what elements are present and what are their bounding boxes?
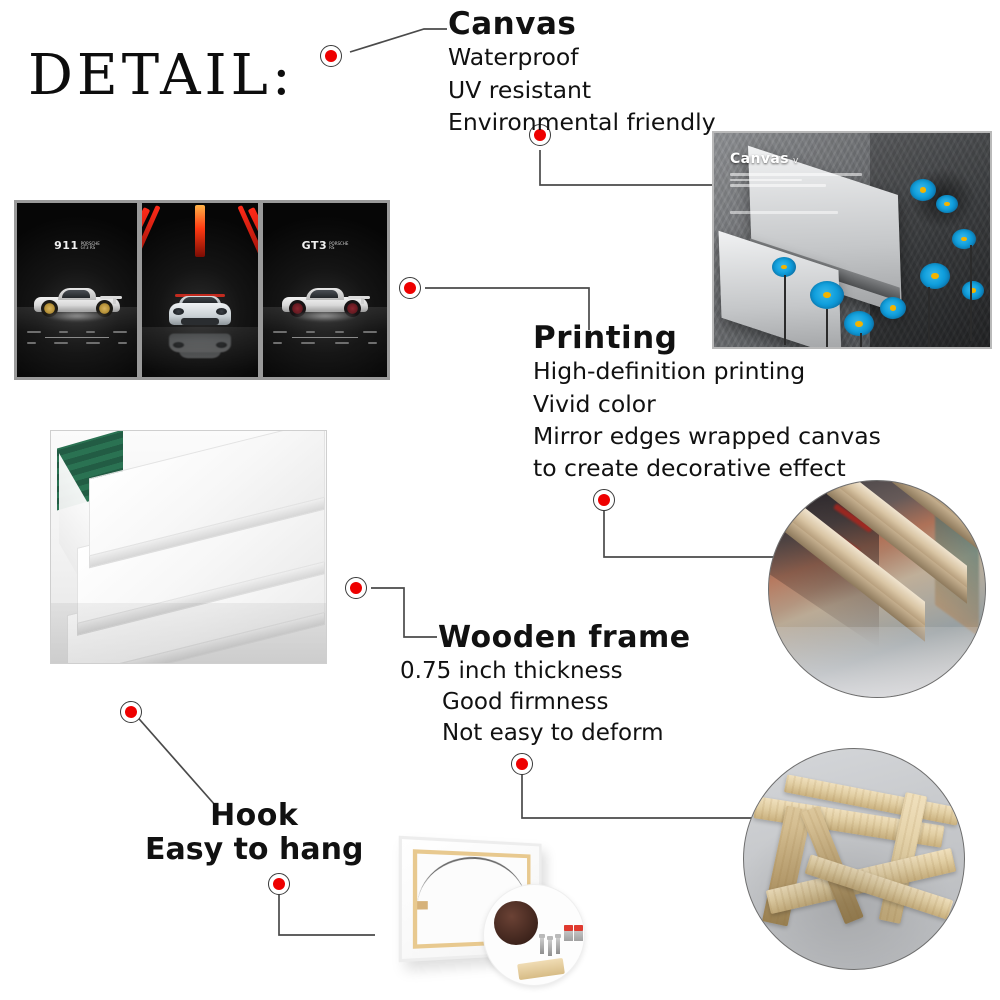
photo-hook-hardware [383,832,583,982]
photo-canvas-flowers: Canvasv [712,131,992,349]
blue-flower [962,281,984,300]
blue-flower [910,179,936,201]
connector-frame-photo [522,764,760,818]
callout-canvas: Canvas Waterproof UV resistant Environme… [448,8,716,138]
connector-canvas-photo [540,150,712,185]
connector-print-photo [604,500,790,557]
callout-printing-line-4: to create decorative effect [533,452,881,484]
blue-flower [920,263,950,289]
blue-flower [952,229,976,249]
blue-flower [844,311,874,336]
red-light-streaks [142,203,258,293]
canvas-overlay-body-text-2 [730,211,850,214]
callout-wooden-frame: Wooden frame 0.75 inch thickness Good fi… [438,622,691,748]
callout-wooden-line-3: Not easy to deform [442,718,691,749]
red-tipped-hook [564,925,573,941]
poster-left-spec-block [27,331,128,357]
connector-wooden [371,588,437,637]
blue-flower [936,195,958,213]
car-silhouette-front [169,291,231,329]
callout-canvas-line-3: Environmental friendly [448,106,716,138]
connector-canvas [350,29,447,52]
connector-hook-photo [279,884,375,935]
wire-anchor-left [417,901,428,909]
callout-canvas-heading: Canvas [448,8,716,41]
marker-printing-dot[interactable] [399,277,421,299]
poster-right-title: GT3PORSCHERS [263,239,387,252]
photo-car-poster-triptych: 911PORSCHEGT3 RS [14,200,390,380]
page-title: DETAIL: [28,48,295,104]
screw [556,937,560,954]
callout-hook: Hook Easy to hang [145,800,363,869]
marker-hook-photo-dot[interactable] [268,873,290,895]
callout-wooden-heading: Wooden frame [438,622,691,654]
marker-wooden-dot[interactable] [345,577,367,599]
callout-canvas-line-2: UV resistant [448,74,716,106]
hardware-disc [494,901,538,945]
marker-hook-dot[interactable] [120,701,142,723]
marker-frame-photo-dot[interactable] [511,753,533,775]
screw [548,939,552,956]
blue-flower [772,257,796,277]
photo-printed-edge-closeup [768,480,986,698]
canvas-overlay-body-text [730,173,880,190]
poster-left-title: 911PORSCHEGT3 RS [17,239,137,252]
photo-wooden-stretcher-frame [743,748,965,970]
red-tipped-hook [574,925,583,941]
callout-wooden-line-2: Good firmness [442,687,691,718]
canvas-overlay-title: Canvasv [730,151,799,167]
callout-hook-line-1: Easy to hang [145,832,363,869]
callout-hook-heading: Hook [145,800,363,832]
blue-flower [880,297,906,319]
wood-wedge [517,958,565,980]
photo-canvas-stack [50,430,327,664]
infographic-canvas: DETAIL: Canvas Waterproof UV resistant E… [0,0,1000,1000]
blue-flower [810,281,844,309]
screw [540,937,544,954]
marker-canvas-dot[interactable] [320,45,342,67]
connector-hook [133,712,215,805]
marker-print-photo-dot[interactable] [593,489,615,511]
poster-panel-center [140,200,260,380]
callout-canvas-line-1: Waterproof [448,41,716,73]
hardware-kit-inset [483,884,585,986]
callout-printing-line-2: Vivid color [533,388,881,420]
callout-printing-line-3: Mirror edges wrapped canvas [533,420,881,452]
poster-panel-left: 911PORSCHEGT3 RS [14,200,140,380]
callout-printing-line-1: High-definition printing [533,355,881,387]
poster-panel-right: GT3PORSCHERS [260,200,390,380]
callout-wooden-line-1: 0.75 inch thickness [400,656,691,687]
poster-right-spec-block [273,331,377,357]
